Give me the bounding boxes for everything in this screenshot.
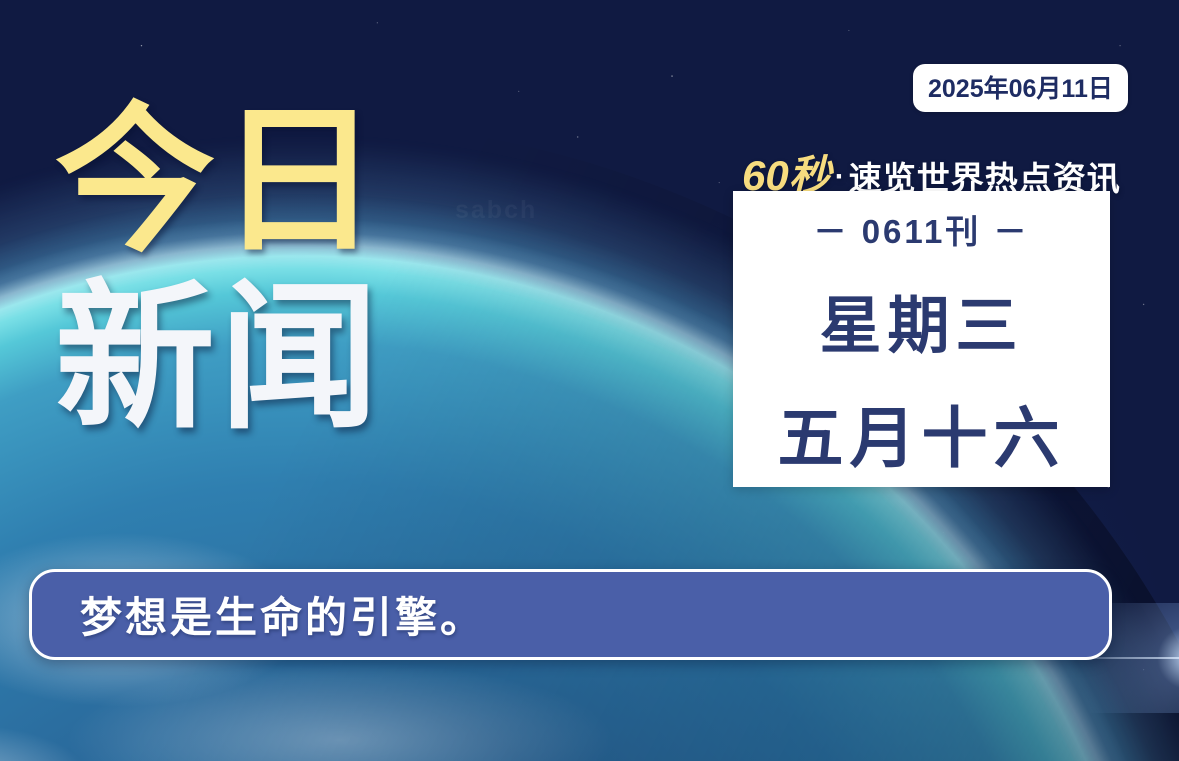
tagline-separator: ·: [831, 160, 849, 193]
weekday-label: 星期三: [819, 275, 1023, 365]
watermark-text: sabch: [455, 196, 537, 225]
issue-card: － 0611刊 － 星期三 五月十六: [733, 191, 1110, 487]
lunar-date-label: 五月十六: [778, 385, 1066, 481]
title-line-2: 新闻: [55, 280, 383, 437]
date-badge: 2025年06月11日: [913, 64, 1128, 112]
quote-text: 梦想是生命的引擎。: [80, 584, 485, 645]
page-title: 今日 新闻: [55, 103, 383, 437]
quote-bar: 梦想是生命的引擎。: [29, 569, 1112, 660]
news-poster: sabch 2025年06月11日 今日 新闻 60秒·速览世界热点资讯 － 0…: [0, 0, 1179, 761]
issue-number: － 0611刊 －: [814, 205, 1030, 253]
title-line-1: 今日: [55, 103, 383, 260]
